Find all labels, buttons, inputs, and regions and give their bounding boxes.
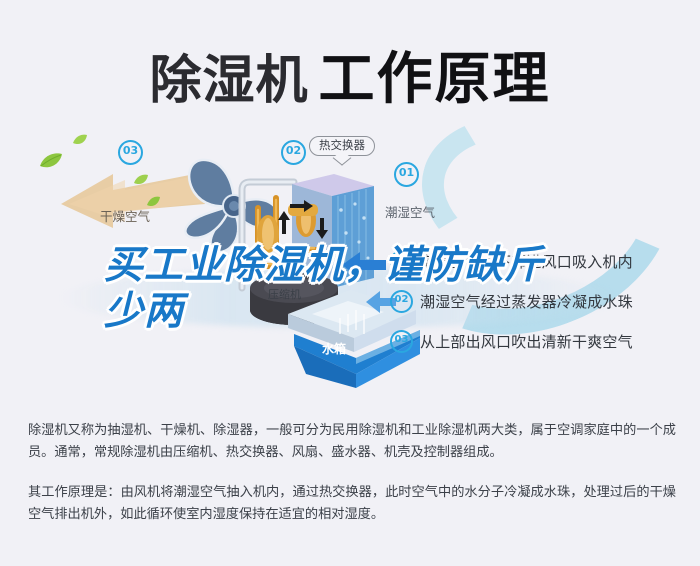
heat-exchanger-callout: 热交换器 [309, 136, 375, 156]
label-dry-air: 干燥空气 [100, 206, 150, 225]
step-text-01: 潮湿空气由下部进风口吸入机内 [420, 251, 633, 272]
diagram-badge-03: 03 [118, 140, 143, 165]
step-text-03: 从上部出风口吹出清新干爽空气 [420, 331, 633, 352]
process-step-list: 01 潮湿空气由下部进风口吸入机内 02 潮湿空气经过蒸发器冷凝成水珠 03 从… [390, 250, 690, 370]
label-humid-air: 潮湿空气 [385, 202, 435, 221]
step-text-02: 潮湿空气经过蒸发器冷凝成水珠 [420, 291, 633, 312]
page-title-part1: 除湿机 [149, 51, 308, 111]
list-item: 03 从上部出风口吹出清新干爽空气 [390, 330, 690, 352]
label-water-tank: 水箱 [322, 340, 346, 357]
page-title-part2: 工作原理 [319, 47, 551, 112]
step-badge-02: 02 [390, 290, 413, 313]
step-badge-03: 03 [390, 330, 413, 353]
list-item: 02 潮湿空气经过蒸发器冷凝成水珠 [390, 290, 690, 312]
page-title: 除湿机工作原理 [0, 34, 700, 115]
list-item: 01 潮湿空气由下部进风口吸入机内 [390, 250, 690, 272]
step-badge-01: 01 [390, 250, 413, 273]
infographic-page: 除湿机工作原理 [0, 0, 700, 566]
body-paragraph-2: 其工作原理是：由风机将潮湿空气抽入机内，通过热交换器，此时空气中的水分子冷凝成水… [28, 482, 676, 526]
article-body: 除湿机又称为抽湿机、干燥机、除湿器，一般可分为民用除湿机和工业除湿机两大类，属于… [28, 420, 676, 526]
label-compressor: 压缩机 [268, 286, 301, 302]
diagram-badge-01: 01 [394, 162, 419, 187]
body-paragraph-1: 除湿机又称为抽湿机、干燥机、除湿器，一般可分为民用除湿机和工业除湿机两大类，属于… [28, 420, 676, 464]
diagram-badge-02: 02 [281, 140, 306, 165]
